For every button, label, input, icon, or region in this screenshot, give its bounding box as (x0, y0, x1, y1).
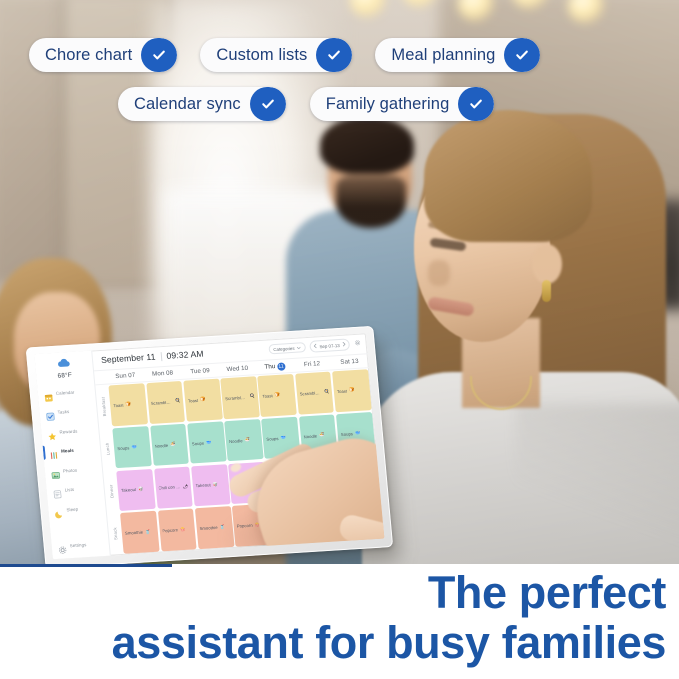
meal-cell-emoji: 🍿 (180, 527, 186, 533)
meal-cell[interactable]: Popcorn🍿 (306, 499, 345, 541)
meal-cell-emoji: 🍿 (329, 517, 335, 523)
meal-cell-text: Takeout (121, 487, 136, 493)
meal-cell-emoji: 🍜 (170, 442, 176, 448)
check-icon (316, 38, 352, 72)
calendar-icon (43, 389, 53, 399)
meal-cell-text: Scrambled eggs (150, 399, 173, 405)
meal-cell-text: Takeout (344, 473, 359, 479)
meal-cell-emoji: 🥤 (145, 529, 151, 535)
day-number: 13 (351, 358, 359, 365)
meal-cell[interactable]: Scrambled eggs🍳 (220, 376, 259, 418)
sidebar-item-label: Lists (64, 487, 74, 493)
meal-cell-text: Toast (337, 388, 348, 394)
sidebar-item-settings[interactable]: Settings (51, 533, 110, 556)
day-number: 09 (202, 367, 210, 374)
topbar-controls: Categories Sep 07-13 (268, 338, 362, 355)
day-header[interactable]: Sun07 (106, 371, 144, 380)
badge-custom-lists[interactable]: Custom lists (200, 38, 352, 72)
headline-line-2: assistant for busy families (26, 618, 666, 668)
meal-cell[interactable]: Noodle🍜 (150, 424, 189, 466)
meal-cell-emoji: 🥤 (368, 515, 374, 521)
day-header[interactable]: Mon08 (144, 369, 182, 378)
headline-text: The perfect assistant for busy families (26, 568, 666, 668)
sidebar-item-label: Photos (63, 467, 78, 473)
meal-cell[interactable]: Toast🍞 (109, 383, 148, 425)
meal-cell-text: Popcorn (162, 528, 178, 534)
badge-label: Custom lists (200, 38, 320, 72)
meal-cell-text: Noodle (154, 443, 168, 449)
weather-temperature: 68°F (57, 371, 72, 379)
day-name: Sun (115, 372, 127, 380)
headline-banner: The perfect assistant for busy families (0, 564, 679, 679)
meal-cell[interactable]: Noodle🍜 (224, 419, 263, 461)
meal-cell-text: Takeout (195, 483, 210, 489)
day-header-today[interactable]: Thu11 (256, 361, 294, 371)
meal-cell-emoji: 🍞 (349, 387, 355, 393)
meal-cell-text: Toast (113, 402, 124, 408)
accent-rule (0, 564, 172, 567)
badge-chore-chart[interactable]: Chore chart (29, 38, 177, 72)
meal-cell-emoji: 🥣 (280, 435, 286, 441)
week-pager[interactable]: Sep 07-13 (309, 339, 350, 353)
meal-cell-text: Smoothie (274, 520, 293, 526)
meal-cell[interactable]: Chili con carne🌶 (154, 466, 193, 508)
meal-cell-emoji: 🍞 (274, 392, 280, 398)
day-header[interactable]: Sat13 (330, 357, 368, 366)
meal-cell-emoji: 🥤 (219, 524, 225, 530)
meal-cell-emoji: 🍞 (200, 397, 206, 403)
gear-icon (57, 541, 67, 551)
meal-cell-emoji: 🥡 (212, 482, 218, 488)
meal-cell-text: Popcorn (237, 523, 253, 529)
badge-label: Meal planning (375, 38, 508, 72)
meal-cell-emoji: 🥡 (287, 477, 293, 483)
meal-cell-emoji: 🥡 (138, 486, 144, 492)
categories-dropdown[interactable]: Categories (268, 342, 306, 354)
meal-cell[interactable]: Toast🍞 (258, 374, 297, 416)
day-name: Thu (264, 363, 276, 371)
badge-row-2: Calendar sync Family gathering (118, 87, 494, 121)
check-icon (141, 38, 177, 72)
meal-cell[interactable]: Smoothie🥤 (269, 502, 308, 544)
meal-cell-text: Smoothie (348, 516, 367, 522)
meal-cell-emoji: 🍿 (254, 522, 260, 528)
meal-cell[interactable]: Toast🍞 (332, 369, 371, 411)
meal-cell[interactable]: Popcorn🍿 (157, 509, 196, 551)
check-icon (250, 87, 286, 121)
meal-cell-emoji: 🍜 (244, 437, 250, 443)
meal-cell[interactable]: Takeout🥡 (116, 469, 155, 511)
sidebar-item-label: Sleep (66, 506, 78, 512)
topbar-divider (160, 352, 162, 361)
meal-cell[interactable]: Chili con carne🌶 (303, 457, 342, 499)
meal-cell-text: Noodle (303, 433, 317, 439)
meal-cell-text: Toast (188, 398, 199, 404)
check-icon (458, 87, 494, 121)
sidebar-item-label: Rewards (59, 428, 77, 434)
meal-cell-emoji: 🌶 (257, 479, 263, 485)
meal-cell-emoji: 🌶 (331, 474, 337, 480)
current-time: 09:32 AM (166, 349, 204, 361)
meal-cell[interactable]: Smoothie🥤 (195, 506, 234, 548)
day-number: 07 (128, 372, 136, 379)
meal-cell-emoji: 🍜 (319, 432, 325, 438)
meal-cell[interactable]: Soups🥣 (187, 421, 226, 463)
day-name: Sat (340, 358, 350, 366)
meal-cell[interactable]: Takeout🥡 (340, 455, 379, 497)
meal-cell[interactable]: Soups🥣 (336, 412, 375, 454)
meal-cell-text: Popcorn (311, 518, 327, 524)
meal-cell-emoji: 🍳 (249, 394, 255, 400)
day-header[interactable]: Wed10 (218, 364, 256, 373)
headline-line-1: The perfect (428, 567, 666, 618)
meal-cell-emoji: 🍞 (125, 402, 131, 408)
meal-cell-emoji: 🥡 (361, 472, 367, 478)
meal-cell[interactable]: Scrambled eggs🍳 (146, 381, 185, 423)
settings-gear-icon[interactable] (353, 340, 362, 348)
day-name: Wed (226, 365, 240, 373)
badge-label: Chore chart (29, 38, 145, 72)
meal-cell-emoji: 🥣 (206, 439, 212, 445)
app-main: September 11 09:32 AM Categories (92, 333, 384, 555)
day-name: Tue (190, 368, 201, 376)
day-name: Mon (152, 370, 165, 378)
meal-cell-text: Smoothie (125, 530, 144, 536)
badge-label: Family gathering (310, 87, 463, 121)
meal-cell[interactable]: Scrambled eggs🍳 (295, 372, 334, 414)
badge-calendar-sync[interactable]: Calendar sync (118, 87, 286, 121)
meal-cell-text: Chili con carne (233, 480, 256, 486)
day-number: 08 (166, 369, 174, 376)
weather-widget: 68°F (56, 355, 73, 383)
day-number: 10 (241, 365, 249, 372)
meal-cell-emoji: 🌶 (182, 484, 188, 490)
badge-label: Calendar sync (118, 87, 254, 121)
day-header[interactable]: Tue09 (181, 367, 219, 376)
sidebar-item-label: Calendar (56, 389, 75, 395)
meal-cell[interactable]: Takeout🥡 (191, 464, 230, 506)
photos-icon (51, 466, 61, 476)
meal-cell-text: Smoothie (199, 525, 218, 531)
meal-cell[interactable]: Soups🥣 (261, 417, 300, 459)
sidebar-item-label: Settings (70, 542, 87, 548)
meal-cell[interactable]: Popcorn🍿 (232, 504, 271, 546)
cloud-icon (57, 358, 71, 371)
chevron-down-icon (296, 345, 300, 350)
week-range-label: Sep 07-13 (319, 342, 340, 348)
meal-cell[interactable]: Takeout🥡 (265, 459, 304, 501)
meal-cell[interactable]: Soups🥣 (112, 426, 151, 468)
sidebar-item-label: Meals (61, 448, 74, 454)
categories-label: Categories (273, 345, 295, 351)
meal-cell-text: Chili con carne (158, 485, 181, 491)
meal-cell-text: Toast (262, 393, 273, 399)
meal-cell[interactable]: Smoothie🥤 (120, 511, 159, 553)
device-screen[interactable]: 68°F Calendar Tasks (34, 333, 384, 559)
chevron-right-icon[interactable] (342, 342, 346, 348)
device-frame: 68°F Calendar Tasks (26, 326, 394, 569)
meal-cell[interactable]: Noodle🍜 (299, 414, 338, 456)
meal-cell[interactable]: Toast🍞 (183, 379, 222, 421)
meal-cell-text: Noodle (229, 438, 243, 444)
day-header[interactable]: Fri12 (293, 360, 331, 369)
badge-family-gathering[interactable]: Family gathering (310, 87, 495, 121)
meal-cell-text: Soups (117, 445, 130, 451)
meal-cell-emoji: 🍳 (175, 398, 181, 404)
current-date: September 11 (101, 352, 156, 365)
meal-cell-text: Scrambled eggs (225, 395, 248, 401)
today-badge: 11 (277, 362, 286, 370)
meal-cell-text: Chili con carne (307, 475, 330, 481)
smart-display-device: 68°F Calendar Tasks (26, 326, 396, 577)
check-icon (504, 38, 540, 72)
meal-cell-text: Soups (266, 436, 279, 442)
day-number: 12 (313, 360, 321, 367)
lists-icon (52, 486, 62, 496)
meal-cell-text: Scrambled eggs (299, 390, 322, 396)
sidebar-spacer (78, 519, 79, 535)
day-name: Fri (304, 361, 312, 368)
meal-cell-emoji: 🥤 (294, 519, 300, 525)
sidebar-item-sleep[interactable]: Sleep (48, 497, 107, 520)
badge-row-1: Chore chart Custom lists Meal planning (29, 38, 540, 72)
star-icon (47, 428, 57, 438)
meal-cell-emoji: 🥣 (131, 444, 137, 450)
meal-cell-emoji: 🍳 (324, 389, 330, 395)
meal-grid: Breakfast Lunch Dinner Snack Toast🍞 Scra… (95, 368, 384, 556)
meal-cell[interactable]: Chili con carne🌶 (228, 462, 267, 504)
meal-cell[interactable]: Smoothie🥤 (344, 497, 383, 539)
meals-icon (49, 447, 59, 457)
moon-icon (54, 505, 64, 515)
badge-meal-planning[interactable]: Meal planning (375, 38, 540, 72)
meal-cell-text: Soups (192, 440, 205, 446)
feature-badges: Chore chart Custom lists Meal planning (0, 0, 679, 130)
chevron-left-icon[interactable] (313, 343, 317, 349)
meal-cells: Toast🍞 Scrambled eggs🍳 Toast🍞 Scrambled … (107, 368, 384, 555)
meal-cell-text: Soups (341, 431, 354, 437)
sidebar-item-label: Tasks (57, 409, 69, 415)
person-woman (366, 104, 679, 567)
meal-cell-emoji: 🥣 (355, 430, 361, 436)
meal-cell-text: Takeout (270, 478, 285, 484)
checklist-icon (45, 408, 55, 418)
product-banner: Chore chart Custom lists Meal planning (0, 0, 679, 679)
